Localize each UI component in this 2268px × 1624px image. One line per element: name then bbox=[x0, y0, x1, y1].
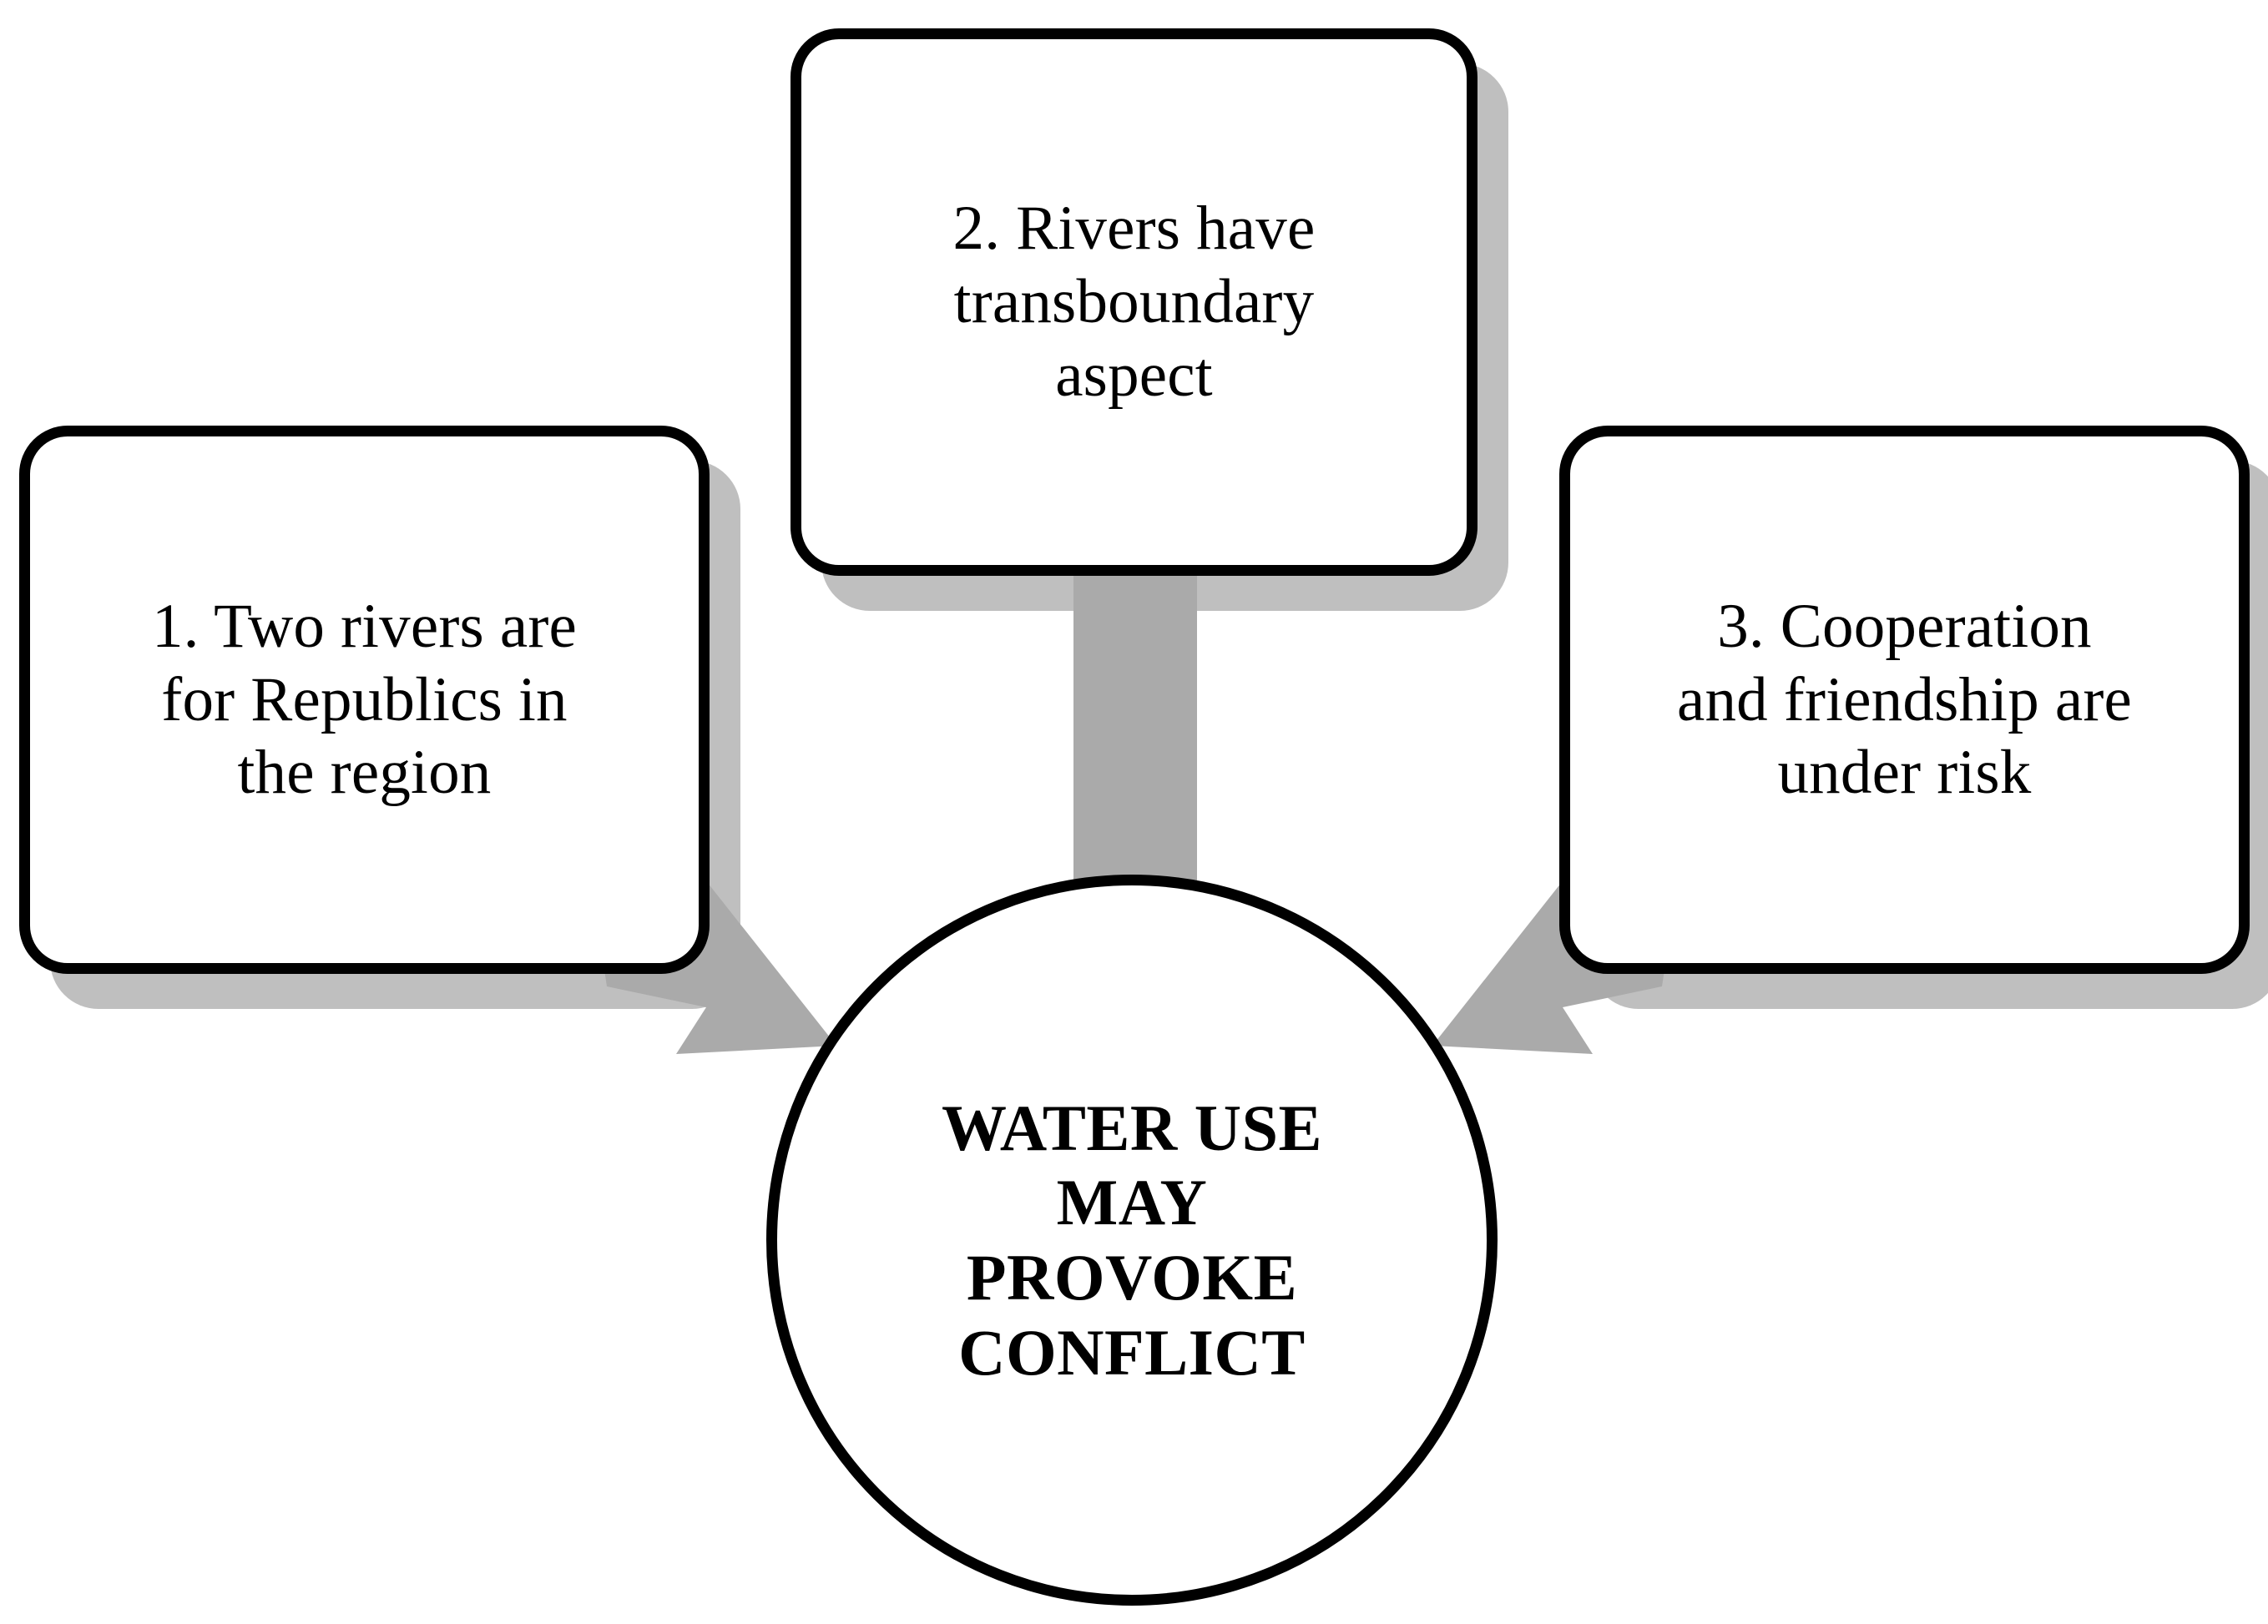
central-circle-node[interactable]: WATER USE MAY PROVOKE CONFLICT bbox=[766, 875, 1498, 1606]
node-box-1[interactable]: 1. Two rivers are for Republics in the r… bbox=[19, 426, 710, 974]
node-box-2-label: 2. Rivers have transboundary aspect bbox=[925, 192, 1344, 411]
node-box-2[interactable]: 2. Rivers have transboundary aspect bbox=[791, 28, 1477, 576]
central-circle-label: WATER USE MAY PROVOKE CONFLICT bbox=[942, 1091, 1322, 1390]
node-box-3-label: 3. Cooperation and friendship are under … bbox=[1649, 590, 2160, 809]
node-box-3[interactable]: 3. Cooperation and friendship are under … bbox=[1559, 426, 2250, 974]
diagram-canvas: 1. Two rivers are for Republics in the r… bbox=[0, 0, 2268, 1624]
node-box-1-label: 1. Two rivers are for Republics in the r… bbox=[124, 590, 605, 809]
